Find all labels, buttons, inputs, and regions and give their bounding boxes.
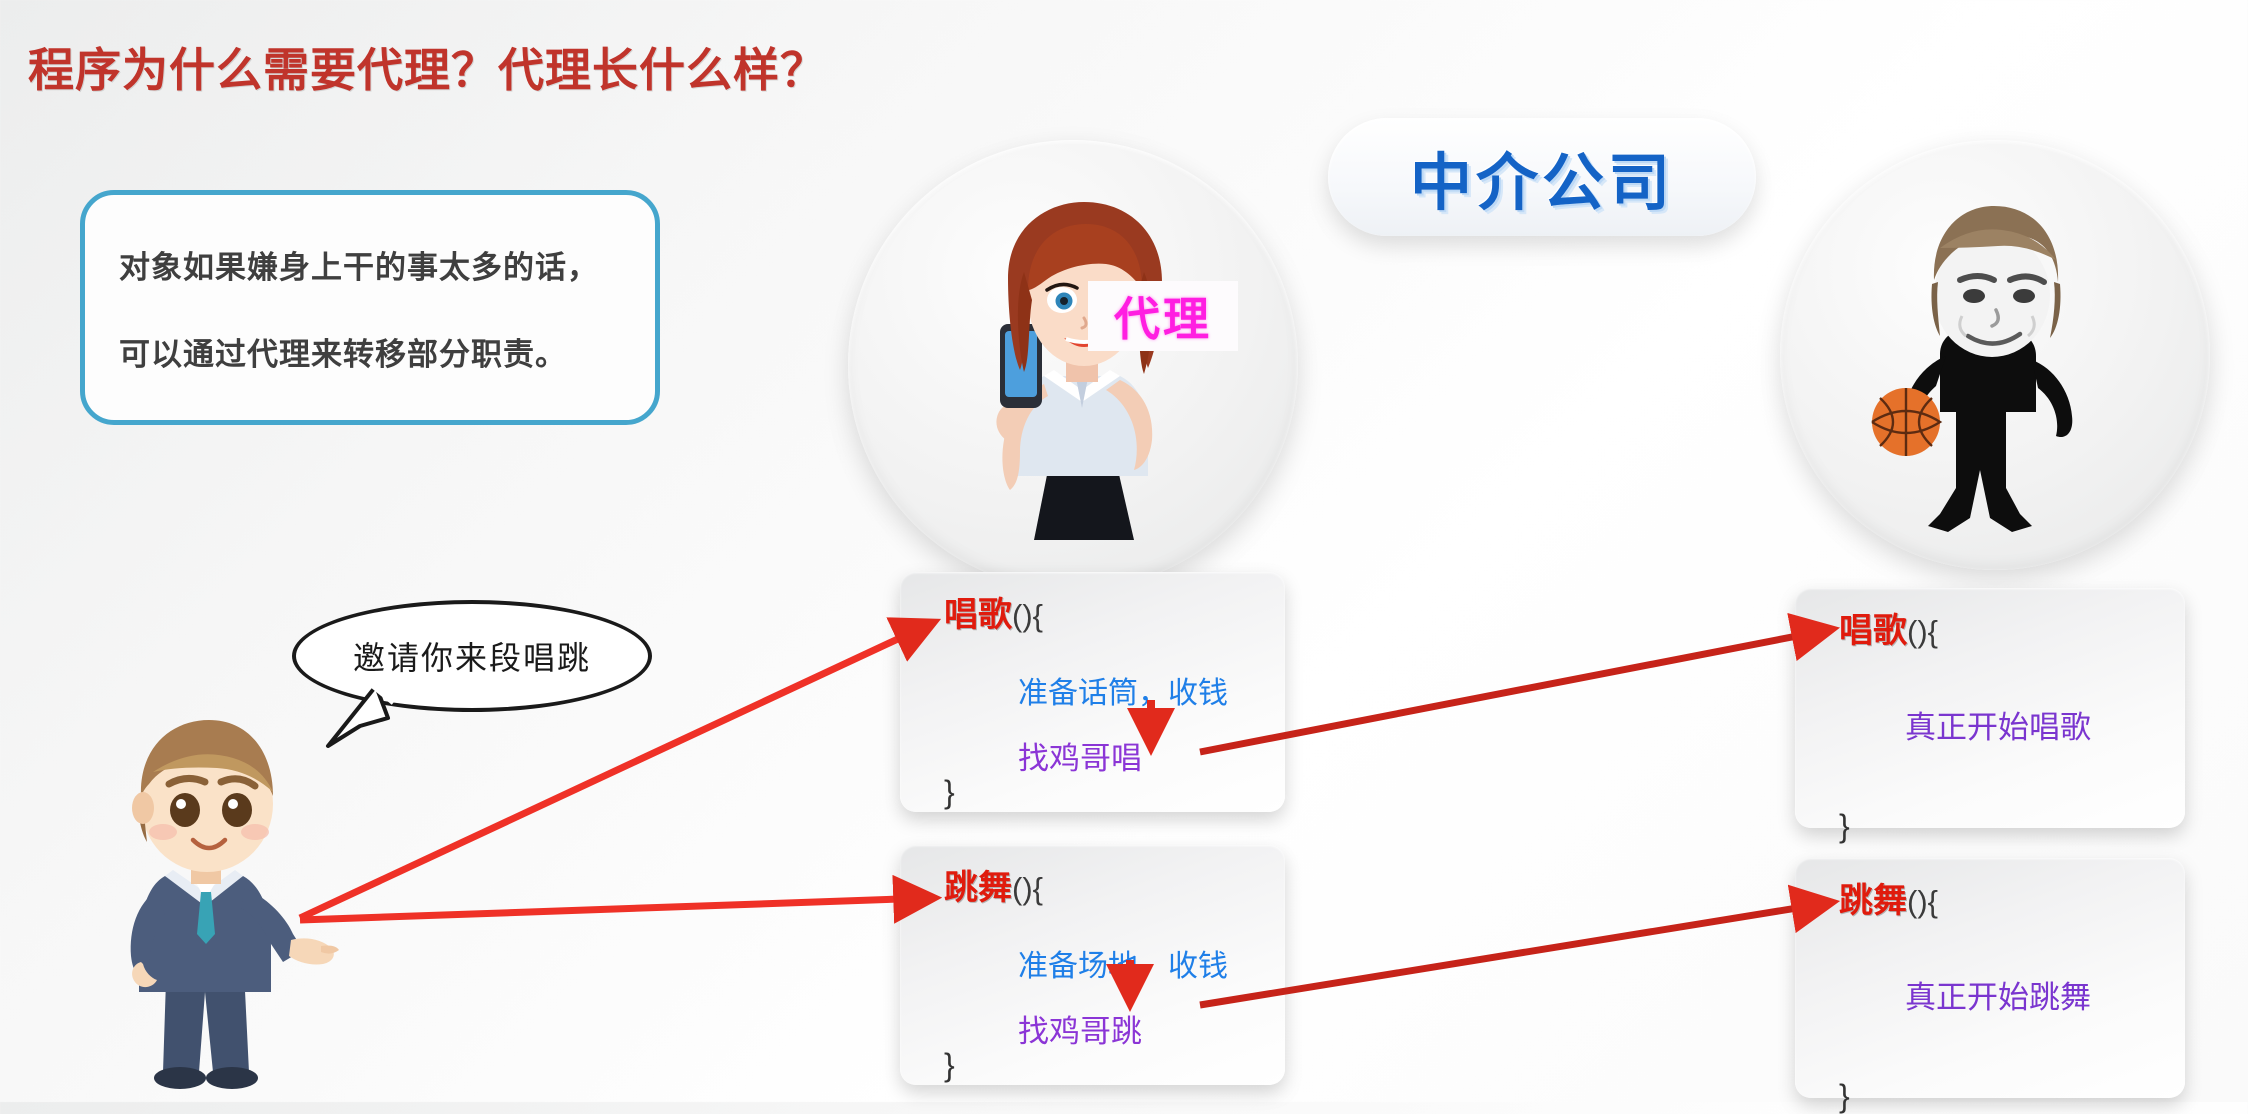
code-line-preprocess: 准备话筒，收钱: [900, 678, 1285, 710]
method-paren: (){: [1907, 614, 1938, 649]
code-line-preprocess: 准备场地，收钱: [900, 951, 1285, 983]
code-signature: 唱歌(){: [1795, 614, 2185, 650]
arrow-proxy-sing-to-real-sing: [1200, 630, 1828, 752]
method-name: 跳舞: [944, 869, 1012, 907]
proxy-label-text: 代理: [1114, 283, 1212, 349]
code-line-delegate: 找鸡哥唱: [900, 743, 1285, 776]
page-title: 程序为什么需要代理？代理长什么样？: [28, 34, 827, 100]
code-box-real-sing: 唱歌(){ 真正开始唱歌 }: [1795, 588, 2185, 828]
businessman-pointing-icon: [95, 700, 385, 1100]
method-name: 跳舞: [1839, 882, 1907, 920]
explanation-note-box: 对象如果嫌身上干的事太多的话， 可以通过代理来转移部分职责。: [80, 190, 660, 425]
speech-bubble-tail-icon: [302, 682, 398, 754]
basketball-meme-icon: [1780, 140, 2210, 570]
code-box-proxy-sing: 唱歌(){ 准备话筒，收钱 找鸡哥唱 }: [900, 572, 1285, 812]
code-line-real-action: 真正开始唱歌: [1795, 712, 2185, 745]
company-badge: 中介公司: [1328, 118, 1756, 236]
woman-on-phone-icon: [848, 140, 1298, 590]
proxy-label-tag: 代理: [1088, 281, 1238, 351]
note-line-1: 对象如果嫌身上干的事太多的话，: [119, 242, 621, 287]
arrow-client-to-proxy-dance: [300, 898, 930, 920]
code-closing-brace: }: [1795, 810, 2185, 844]
method-name: 唱歌: [944, 596, 1012, 634]
arrow-proxy-dance-to-real-dance: [1200, 903, 1828, 1005]
method-paren: (){: [1907, 884, 1938, 919]
proxy-agent-avatar: [848, 140, 1298, 590]
note-line-2: 可以通过代理来转移部分职责。: [119, 329, 621, 374]
speech-bubble: 邀请你来段唱跳: [292, 600, 652, 712]
code-signature: 跳舞(){: [900, 871, 1285, 907]
slide-canvas: 程序为什么需要代理？代理长什么样？ 对象如果嫌身上干的事太多的话， 可以通过代理…: [0, 0, 2248, 1102]
speech-bubble-text: 邀请你来段唱跳: [353, 633, 591, 679]
method-paren: (){: [1012, 871, 1043, 906]
code-box-proxy-dance: 跳舞(){ 准备场地，收钱 找鸡哥跳 }: [900, 845, 1285, 1085]
company-badge-label: 中介公司: [1410, 132, 1674, 222]
method-name: 唱歌: [1839, 612, 1907, 650]
code-line-real-action: 真正开始跳舞: [1795, 982, 2185, 1015]
code-signature: 唱歌(){: [900, 598, 1285, 634]
code-closing-brace: }: [900, 1049, 1285, 1083]
method-paren: (){: [1012, 598, 1043, 633]
real-subject-avatar: [1780, 140, 2210, 570]
code-box-real-dance: 跳舞(){ 真正开始跳舞 }: [1795, 858, 2185, 1098]
client-businessman-avatar: [95, 700, 385, 1100]
code-closing-brace: }: [1795, 1080, 2185, 1114]
code-signature: 跳舞(){: [1795, 884, 2185, 920]
code-closing-brace: }: [900, 776, 1285, 810]
code-line-delegate: 找鸡哥跳: [900, 1016, 1285, 1049]
